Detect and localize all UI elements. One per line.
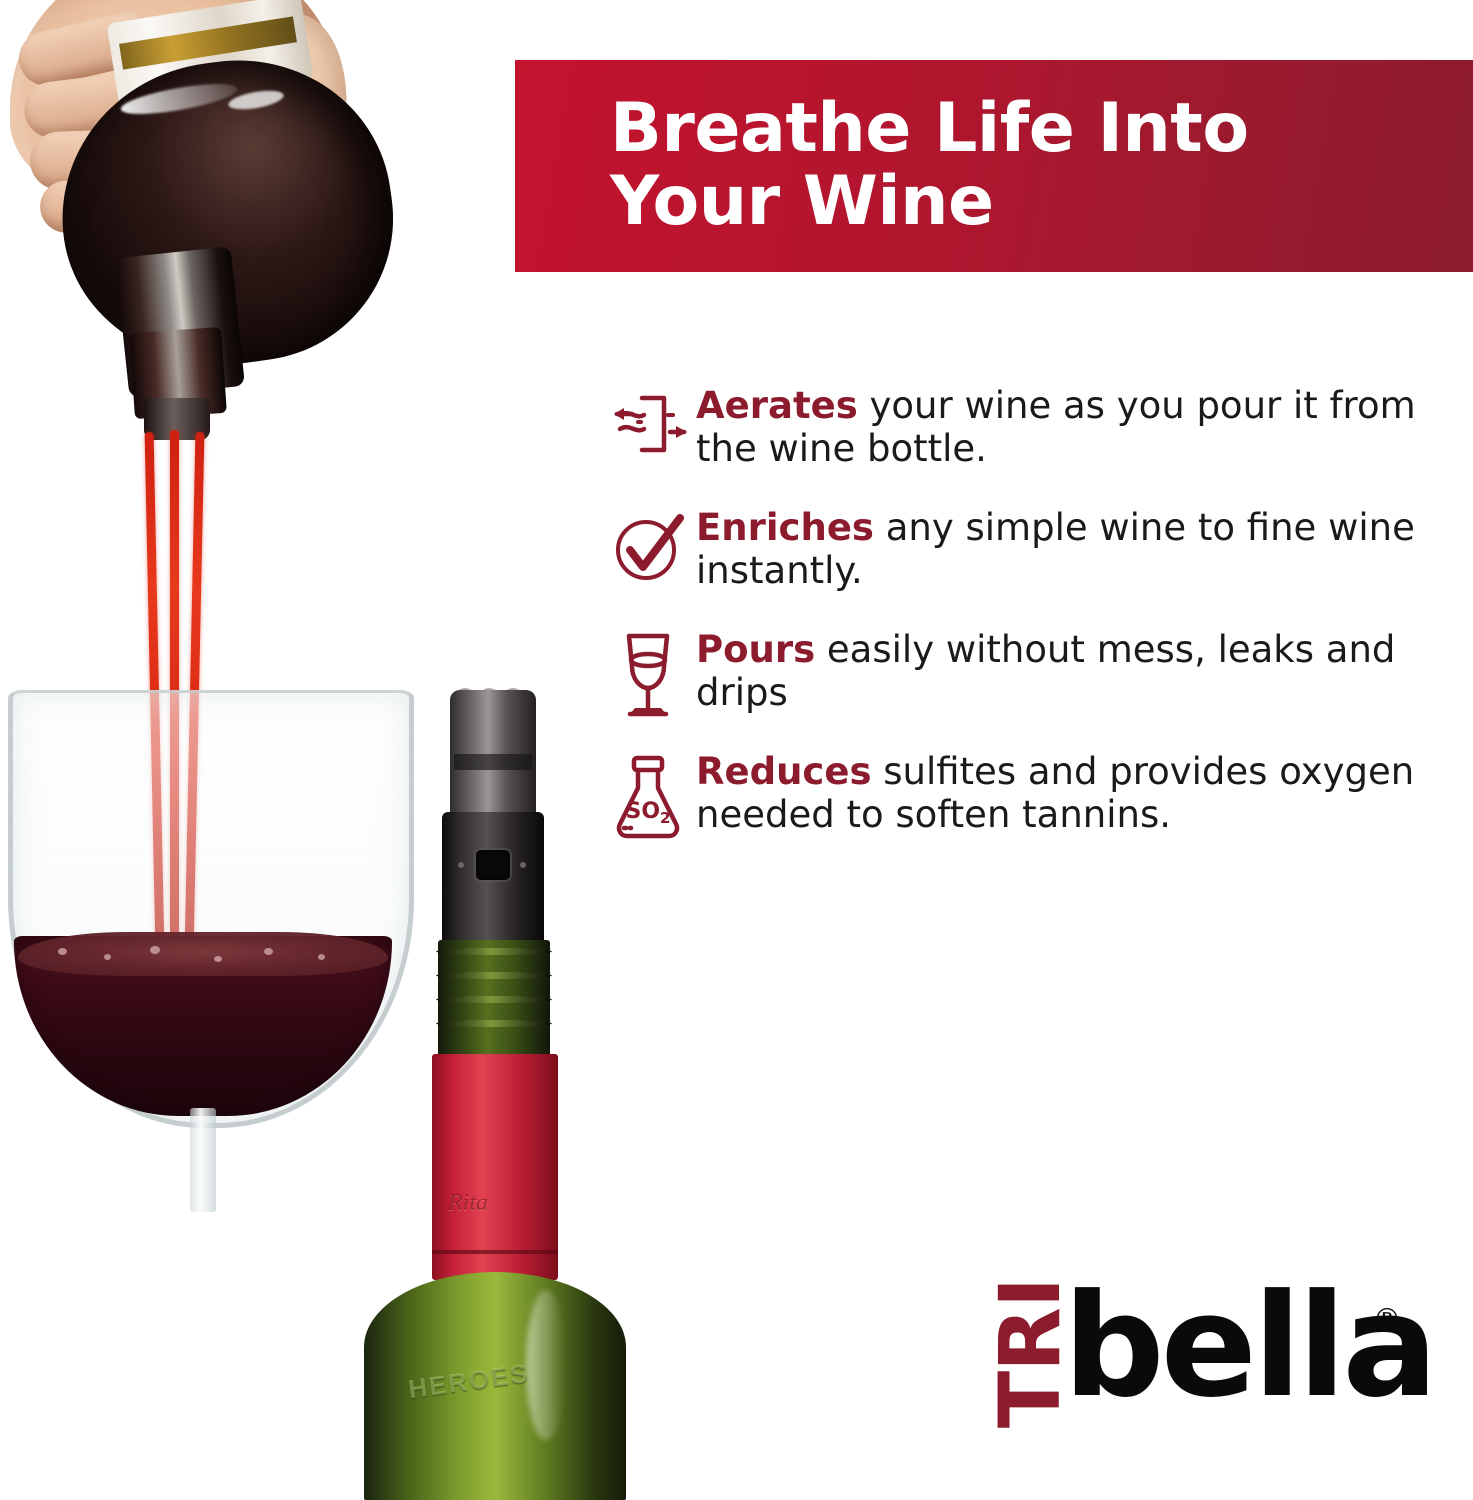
logo-tri-text: TRI [988,1278,1072,1428]
feature-text: Aerates your wine as you pour it from th… [696,382,1460,471]
sulfite-flask-icon: SO2 [600,748,696,840]
feature-item-pours: Pours easily without mess, leaks and dri… [600,626,1460,718]
aeration-arrows-icon [600,382,696,474]
registered-trademark-icon: ® [1373,1302,1401,1335]
bubble [318,954,325,960]
feature-text: Reduces sulfites and provides oxygen nee… [696,748,1460,837]
bottle-thread [436,948,552,955]
product-feature-image: Rita HEROES Breathe Life IntoYour Wine [0,0,1473,1500]
feature-list: Aerates your wine as you pour it from th… [600,382,1460,870]
bubble [150,946,160,954]
feature-text: Pours easily without mess, leaks and dri… [696,626,1460,715]
bubble [104,954,111,960]
logo-bella-text: bella [1063,1272,1434,1421]
aerator-spout [450,690,536,816]
feature-text: Enriches any simple wine to fine wine in… [696,504,1460,593]
aerator-air-vent [476,850,510,880]
aerator-on-bottle: Rita HEROES [330,690,640,1500]
headline-banner: Breathe Life IntoYour Wine [515,60,1473,272]
brand-logo: TRI bella ® [955,1272,1405,1442]
feature-highlight: Reduces [696,750,871,793]
feature-item-enriches: Enriches any simple wine to fine wine in… [600,504,1460,596]
feature-highlight: Enriches [696,506,874,549]
page-title: Breathe Life IntoYour Wine [515,93,1249,239]
glass-stem [190,1108,216,1212]
feature-highlight: Aerates [696,384,858,427]
bottle-thread [436,996,552,1003]
check-circle-icon [600,504,696,596]
bottle-thread [436,972,552,979]
bubble [264,948,273,955]
capsule-tear-line [432,1250,558,1254]
feature-item-aerates: Aerates your wine as you pour it from th… [600,382,1460,474]
title-line-2: Your Wine [610,162,994,241]
aerator-rivet [458,862,464,868]
capsule-embossed-text: Rita [448,1190,488,1217]
bottle-foil-capsule [432,1054,558,1280]
bottle-body-highlight [526,1290,566,1440]
bubble [214,956,222,962]
aerator-brand-imprint [454,754,532,770]
title-line-1: Breathe Life Into [610,89,1249,168]
feature-highlight: Pours [696,628,815,671]
feature-item-reduces: SO2 Reduces sulfites and provides oxygen… [600,748,1460,840]
wine-glass-icon [600,626,696,718]
aerator-rivet [520,862,526,868]
bubble [58,948,67,955]
bottle-thread [436,1020,552,1027]
